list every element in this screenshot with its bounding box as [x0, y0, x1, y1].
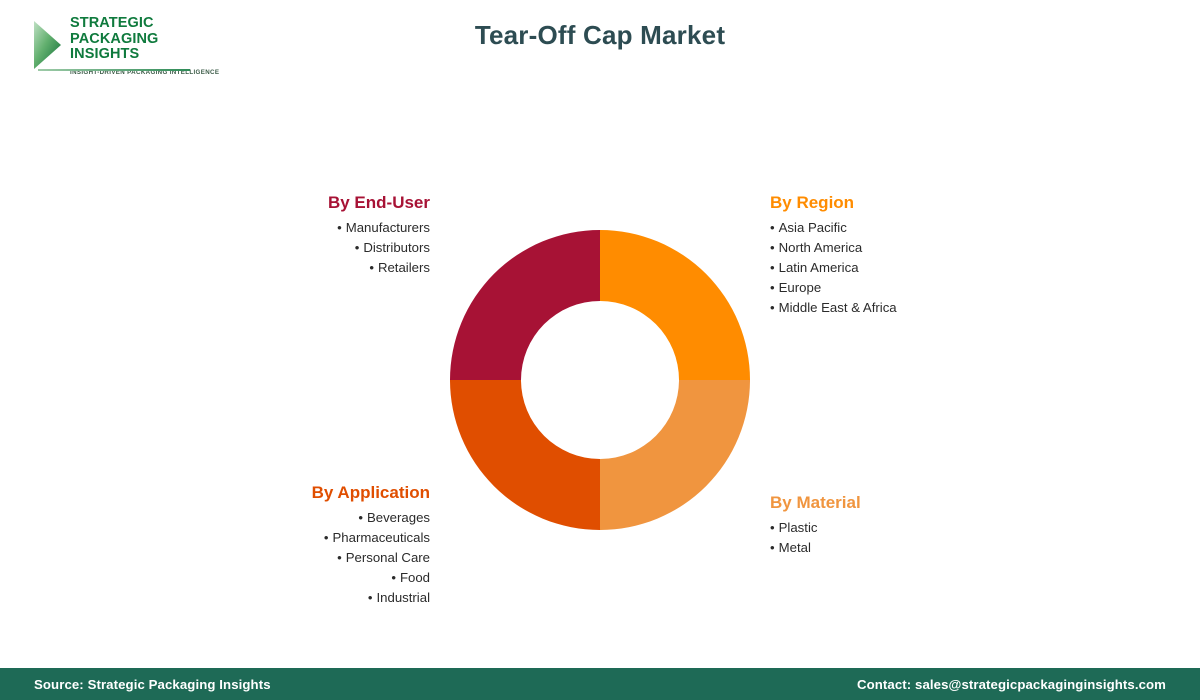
segment-item: •Metal	[770, 538, 1070, 558]
bullet-icon: •	[337, 220, 342, 235]
bullet-icon: •	[770, 300, 775, 315]
bullet-icon: •	[337, 550, 342, 565]
segment-item: •Beverages	[170, 508, 430, 528]
segment-item-label: Beverages	[367, 510, 430, 525]
segment-item: •Retailers	[230, 258, 430, 278]
segment-item: •Europe	[770, 278, 1070, 298]
segment-item-label: Retailers	[378, 260, 430, 275]
donut-slice-by-region	[600, 230, 750, 380]
segment-block-region: By Region •Asia Pacific•North America•La…	[770, 192, 1070, 318]
footer-bar: Source: Strategic Packaging Insights Con…	[0, 668, 1200, 700]
bullet-icon: •	[770, 280, 775, 295]
segment-list-region: •Asia Pacific•North America•Latin Americ…	[770, 218, 1070, 318]
segment-title-material: By Material	[770, 492, 1070, 513]
donut-slice-by-material	[600, 380, 750, 530]
bullet-icon: •	[368, 590, 373, 605]
footer-contact-text: Contact: sales@strategicpackaginginsight…	[857, 677, 1166, 692]
bullet-icon: •	[770, 520, 775, 535]
segment-item: •Food	[170, 568, 430, 588]
bullet-icon: •	[358, 510, 363, 525]
segment-title-end-user: By End-User	[230, 192, 430, 213]
segment-item: •Manufacturers	[230, 218, 430, 238]
segment-item-label: Manufacturers	[346, 220, 430, 235]
segment-item-label: Food	[400, 570, 430, 585]
segment-item: •Latin America	[770, 258, 1070, 278]
segment-item-label: Personal Care	[346, 550, 430, 565]
segment-item: •Asia Pacific	[770, 218, 1070, 238]
bullet-icon: •	[770, 260, 775, 275]
bullet-icon: •	[770, 540, 775, 555]
segment-title-region: By Region	[770, 192, 1070, 213]
segment-list-material: •Plastic•Metal	[770, 518, 1070, 558]
donut-slice-by-application	[450, 380, 600, 530]
footer-source-text: Source: Strategic Packaging Insights	[34, 677, 271, 692]
bullet-icon: •	[324, 530, 329, 545]
segment-item: •Distributors	[230, 238, 430, 258]
segment-item: •Middle East & Africa	[770, 298, 1070, 318]
segment-item-label: North America	[779, 240, 863, 255]
bullet-icon: •	[391, 570, 396, 585]
donut-chart	[450, 230, 750, 530]
bullet-icon: •	[770, 240, 775, 255]
segment-block-application: By Application •Beverages•Pharmaceutical…	[170, 482, 430, 608]
segment-item-label: Distributors	[363, 240, 430, 255]
segment-block-material: By Material •Plastic•Metal	[770, 492, 1070, 558]
segment-item-label: Plastic	[779, 520, 818, 535]
segment-item-label: Industrial	[376, 590, 430, 605]
donut-slice-by-end-user	[450, 230, 600, 380]
segment-item: •Industrial	[170, 588, 430, 608]
segment-title-application: By Application	[170, 482, 430, 503]
segment-item: •Personal Care	[170, 548, 430, 568]
segment-item-label: Europe	[779, 280, 822, 295]
segment-item: •North America	[770, 238, 1070, 258]
segment-item: •Plastic	[770, 518, 1070, 538]
bullet-icon: •	[369, 260, 374, 275]
segment-list-application: •Beverages•Pharmaceuticals•Personal Care…	[170, 508, 430, 608]
segment-item-label: Latin America	[779, 260, 859, 275]
bullet-icon: •	[355, 240, 360, 255]
segment-item: •Pharmaceuticals	[170, 528, 430, 548]
segment-list-end-user: •Manufacturers•Distributors•Retailers	[230, 218, 430, 278]
segment-item-label: Pharmaceuticals	[333, 530, 430, 545]
page-title: Tear-Off Cap Market	[0, 20, 1200, 51]
segment-block-end-user: By End-User •Manufacturers•Distributors•…	[230, 192, 430, 278]
bullet-icon: •	[770, 220, 775, 235]
logo-underline-divider	[38, 69, 190, 71]
segment-item-label: Metal	[779, 540, 811, 555]
segment-item-label: Asia Pacific	[779, 220, 847, 235]
segment-item-label: Middle East & Africa	[779, 300, 897, 315]
